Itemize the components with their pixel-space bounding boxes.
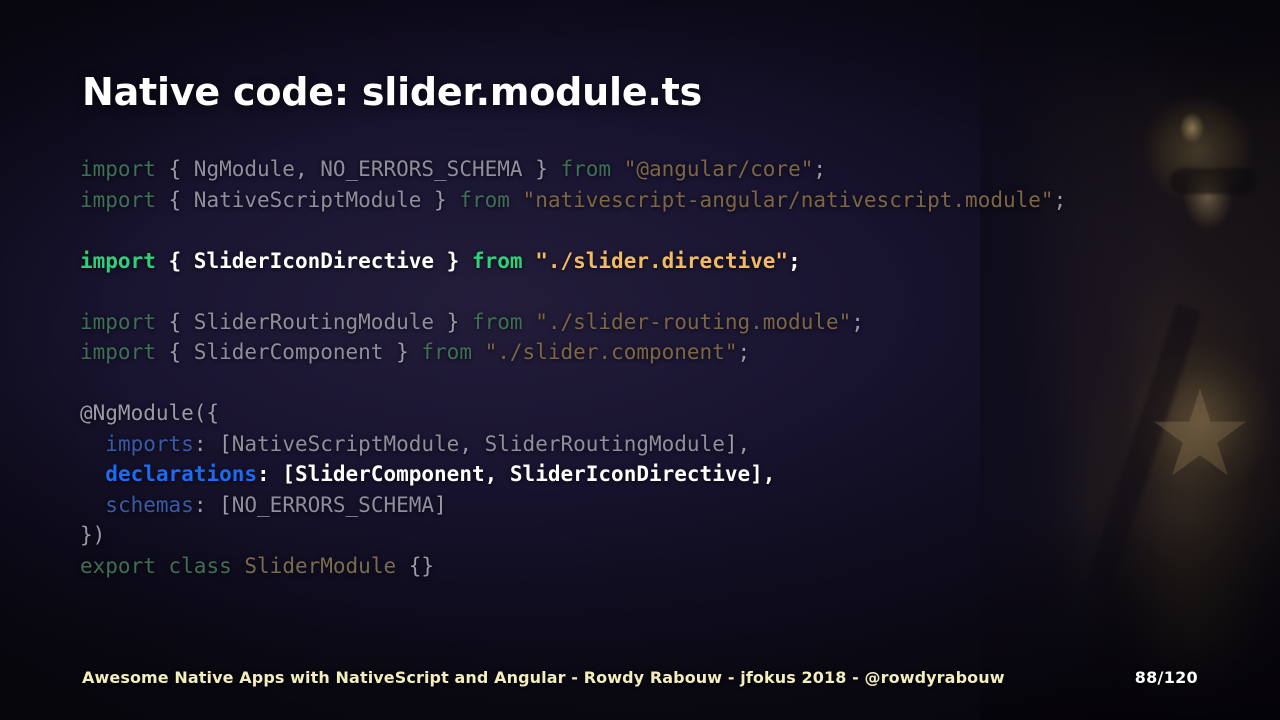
code-token [80, 493, 105, 517]
code-token: from [560, 157, 611, 181]
code-token: ; [813, 157, 826, 181]
code-line: @NgModule({ [80, 398, 1260, 429]
code-line: }) [80, 520, 1260, 551]
code-line: import { SliderRoutingModule } from "./s… [80, 307, 1260, 338]
code-token: ], [725, 432, 750, 456]
code-token: SliderComponent [194, 340, 384, 364]
code-token: SliderIconDirective [510, 462, 750, 486]
code-token: export [80, 554, 156, 578]
code-token: import [80, 310, 156, 334]
code-token: SliderIconDirective [194, 249, 434, 273]
code-token [80, 462, 105, 486]
code-token: NativeScriptModule [232, 432, 460, 456]
code-token [510, 188, 523, 212]
code-token [523, 310, 536, 334]
code-token: "./slider.component" [485, 340, 738, 364]
code-token: from [421, 340, 472, 364]
code-token: } [421, 188, 459, 212]
code-token: { [156, 249, 194, 273]
code-token: import [80, 340, 156, 364]
code-token: SliderRoutingModule [194, 310, 434, 334]
code-token: : [ [194, 493, 232, 517]
code-token: ], [750, 462, 775, 486]
code-line: import { NativeScriptModule } from "nati… [80, 185, 1260, 216]
code-token: NO_ERRORS_SCHEMA [320, 157, 522, 181]
code-token [611, 157, 624, 181]
code-token: ] [434, 493, 447, 517]
code-token: NativeScriptModule [194, 188, 422, 212]
code-token [80, 432, 105, 456]
code-blank-line [80, 276, 1260, 307]
code-token: } [434, 310, 472, 334]
code-token [523, 249, 536, 273]
code-token: }) [80, 523, 105, 547]
code-token: NgModule [194, 157, 295, 181]
code-token: { [156, 188, 194, 212]
code-token: { [156, 310, 194, 334]
code-token: "@angular/core" [624, 157, 814, 181]
code-token: ; [1054, 188, 1067, 212]
code-token: } [383, 340, 421, 364]
code-token: "nativescript-angular/nativescript.modul… [523, 188, 1054, 212]
code-token: from [459, 188, 510, 212]
code-token: from [472, 310, 523, 334]
code-line: export class SliderModule {} [80, 551, 1260, 582]
code-token: imports [105, 432, 194, 456]
code-block: import { NgModule, NO_ERRORS_SCHEMA } fr… [80, 154, 1260, 581]
code-token: "./slider-routing.module" [535, 310, 851, 334]
code-token: ; [788, 249, 801, 273]
code-line: schemas: [NO_ERRORS_SCHEMA] [80, 490, 1260, 521]
code-token: "./slider.directive" [535, 249, 788, 273]
code-line: imports: [NativeScriptModule, SliderRout… [80, 429, 1260, 460]
page-indicator: 88/120 [1135, 668, 1198, 687]
code-token: from [472, 249, 523, 273]
code-token: SliderModule [244, 554, 396, 578]
slide-title: Native code: slider.module.ts [82, 70, 702, 114]
code-line: import { SliderIconDirective } from "./s… [80, 246, 1260, 277]
code-token: declarations [105, 462, 257, 486]
code-token: @NgModule({ [80, 401, 219, 425]
code-token: : [ [194, 432, 232, 456]
code-token: } [434, 249, 472, 273]
code-token: class [169, 554, 232, 578]
code-line: import { SliderComponent } from "./slide… [80, 337, 1260, 368]
code-token: , [295, 157, 320, 181]
code-token: {} [396, 554, 434, 578]
presentation-slide: Native code: slider.module.ts import { N… [0, 0, 1280, 720]
code-blank-line [80, 215, 1260, 246]
code-token: , [485, 462, 510, 486]
code-line: import { NgModule, NO_ERRORS_SCHEMA } fr… [80, 154, 1260, 185]
code-token: { [156, 157, 194, 181]
code-token: , [459, 432, 484, 456]
code-token: } [523, 157, 561, 181]
code-token: import [80, 188, 156, 212]
code-token: SliderRoutingModule [485, 432, 725, 456]
code-token: ; [738, 340, 751, 364]
code-line: declarations: [SliderComponent, SliderIc… [80, 459, 1260, 490]
code-token: : [ [257, 462, 295, 486]
footer-credit: Awesome Native Apps with NativeScript an… [82, 668, 1005, 687]
code-token: { [156, 340, 194, 364]
code-token: ; [851, 310, 864, 334]
code-token: schemas [105, 493, 194, 517]
code-blank-line [80, 368, 1260, 399]
code-token [472, 340, 485, 364]
code-token: import [80, 157, 156, 181]
code-token: NO_ERRORS_SCHEMA [232, 493, 434, 517]
code-token: import [80, 249, 156, 273]
code-token [232, 554, 245, 578]
code-token: SliderComponent [295, 462, 485, 486]
code-token [156, 554, 169, 578]
